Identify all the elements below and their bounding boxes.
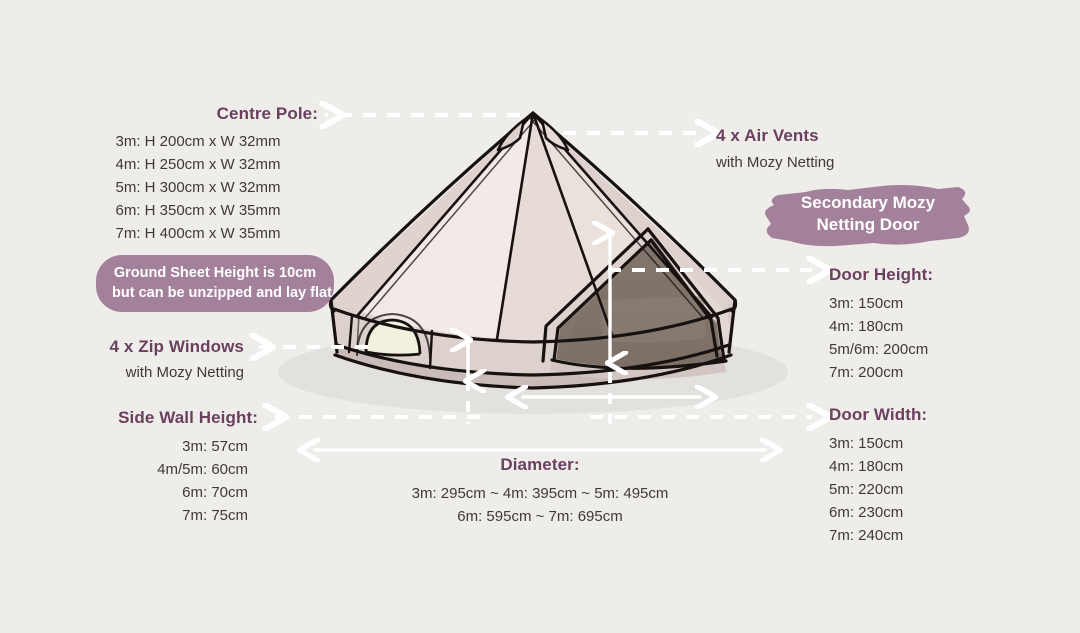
door-height-item: 5m/6m: 200cm (829, 339, 933, 362)
door-width-heading: Door Width: (829, 405, 927, 425)
door-height-item: 3m: 150cm (829, 293, 933, 316)
door-width-item: 4m: 180cm (829, 456, 927, 479)
infographic-canvas: Centre Pole: 3m: H 200cm x W 32mm 4m: H … (0, 0, 1080, 633)
air-vents-heading: 4 x Air Vents (716, 126, 834, 146)
centre-pole-item: 5m: H 300cm x W 32mm (78, 177, 318, 200)
side-wall-height-block: Side Wall Height: 3m: 57cm 4m/5m: 60cm 6… (0, 408, 258, 528)
centre-pole-list: 3m: H 200cm x W 32mm 4m: H 250cm x W 32m… (78, 131, 318, 245)
door-height-list: 3m: 150cm 4m: 180cm 5m/6m: 200cm 7m: 200… (829, 293, 933, 384)
centre-pole-block: Centre Pole: 3m: H 200cm x W 32mm 4m: H … (78, 104, 318, 245)
door-width-item: 6m: 230cm (829, 502, 927, 525)
door-height-item: 7m: 200cm (829, 362, 933, 385)
side-wall-height-item: 6m: 70cm (0, 482, 248, 505)
secondary-netting-door-badge: Secondary Mozy Netting Door (762, 183, 974, 247)
side-wall-height-item: 4m/5m: 60cm (0, 459, 248, 482)
door-width-block: Door Width: 3m: 150cm 4m: 180cm 5m: 220c… (829, 405, 927, 547)
ground-sheet-line1: Ground Sheet Height is 10cm (112, 264, 318, 284)
door-height-block: Door Height: 3m: 150cm 4m: 180cm 5m/6m: … (829, 265, 933, 385)
side-wall-height-list: 3m: 57cm 4m/5m: 60cm 6m: 70cm 7m: 75cm (0, 436, 258, 527)
side-wall-height-heading: Side Wall Height: (0, 408, 258, 428)
diameter-line2: 6m: 595cm ~ 7m: 695cm (300, 506, 780, 529)
door-height-item: 4m: 180cm (829, 316, 933, 339)
side-wall-height-item: 7m: 75cm (0, 505, 248, 528)
secondary-door-line1: Secondary Mozy (801, 192, 935, 214)
zip-windows-heading: 4 x Zip Windows (0, 337, 244, 357)
centre-pole-item: 7m: H 400cm x W 35mm (78, 223, 318, 246)
secondary-netting-door-text: Secondary Mozy Netting Door (801, 192, 935, 238)
diameter-heading: Diameter: (300, 455, 780, 475)
ground-sheet-line2: but can be unzipped and lay flat (112, 284, 318, 304)
ground-sheet-badge: Ground Sheet Height is 10cm but can be u… (96, 255, 334, 312)
side-wall-height-item: 3m: 57cm (0, 436, 248, 459)
centre-pole-item: 6m: H 350cm x W 35mm (78, 200, 318, 223)
door-width-item: 5m: 220cm (829, 479, 927, 502)
door-height-heading: Door Height: (829, 265, 933, 285)
zip-windows-block: 4 x Zip Windows with Mozy Netting (0, 337, 244, 384)
door-width-list: 3m: 150cm 4m: 180cm 5m: 220cm 6m: 230cm … (829, 433, 927, 547)
air-vents-sub: with Mozy Netting (716, 152, 834, 174)
centre-pole-item: 3m: H 200cm x W 32mm (78, 131, 318, 154)
centre-pole-item: 4m: H 250cm x W 32mm (78, 154, 318, 177)
diameter-block: Diameter: 3m: 295cm ~ 4m: 395cm ~ 5m: 49… (300, 455, 780, 529)
air-vents-block: 4 x Air Vents with Mozy Netting (716, 126, 834, 174)
secondary-door-line2: Netting Door (801, 214, 935, 236)
door-width-item: 7m: 240cm (829, 525, 927, 548)
diameter-line1: 3m: 295cm ~ 4m: 395cm ~ 5m: 495cm (300, 483, 780, 506)
zip-windows-sub: with Mozy Netting (0, 362, 244, 384)
door-width-item: 3m: 150cm (829, 433, 927, 456)
centre-pole-heading: Centre Pole: (78, 104, 318, 124)
diameter-list: 3m: 295cm ~ 4m: 395cm ~ 5m: 495cm 6m: 59… (300, 483, 780, 529)
